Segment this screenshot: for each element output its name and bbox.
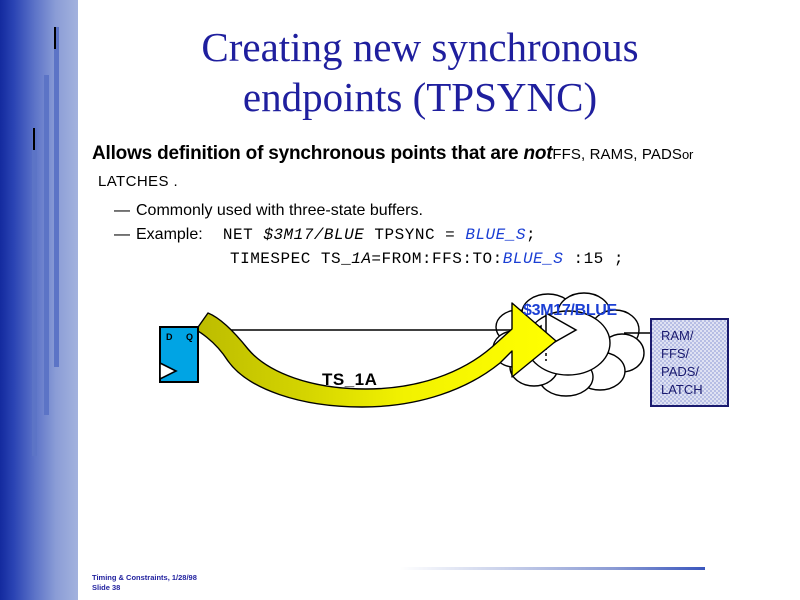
slide-footer: Timing & Constraints, 1/28/98 Slide 38: [92, 573, 197, 593]
net-name-label: $3M17/BLUE: [523, 302, 617, 320]
flipflop-q-pin-label: Q: [186, 332, 193, 342]
slide-title: Creating new synchronous endpoints (TPSY…: [110, 22, 730, 122]
code-timespec-name: 1A: [351, 250, 371, 268]
endpoint-box: RAM/ FFS/ PADS/ LATCH: [650, 318, 729, 407]
code-line-1-terminator: ;: [526, 226, 536, 244]
code-net-keyword: NET: [223, 226, 263, 244]
code-timespec-value: :15 ;: [563, 250, 624, 268]
code-net-name: $3M17/BLUE: [263, 226, 364, 244]
sidebar-tick-1: [33, 128, 35, 150]
lead-prefix: Allows definition of synchronous points …: [92, 143, 523, 164]
footer-deck-title: Timing & Constraints, 1/28/98: [92, 573, 197, 583]
code-tpsync-keyword: TPSYNC =: [364, 226, 465, 244]
flipflop-d-pin-label: D: [166, 332, 173, 342]
code-tpsync-value: BLUE_S: [465, 226, 526, 244]
slide-title-line2: endpoints (TPSYNC): [110, 72, 730, 122]
em-dash-icon: —: [114, 202, 130, 219]
bullet-item-0-text: Commonly used with three-state buffers.: [136, 202, 423, 219]
bullet-item-1-label: Example:: [136, 226, 203, 243]
lead-italic-not: not: [523, 143, 552, 164]
code-timespec-keyword: TIMESPEC TS_: [230, 250, 351, 268]
slide-title-line1: Creating new synchronous: [201, 24, 638, 70]
footer-slide-number: Slide 38: [92, 583, 197, 593]
code-timespec-from-to: =FROM:FFS:TO:: [371, 250, 502, 268]
lead-conjunction: or: [682, 147, 693, 162]
sub-bullet-list: —Commonly used with three-state buffers.…: [92, 199, 772, 271]
endpoint-box-line-1: FFS/: [661, 345, 727, 363]
slide-body: Allows definition of synchronous points …: [92, 140, 772, 271]
lead-paragraph: Allows definition of synchronous points …: [92, 140, 772, 169]
code-line-1: NET $3M17/BLUE TPSYNC = BLUE_S;: [203, 226, 536, 244]
code-line-2: TIMESPEC TS_1A=FROM:FFS:TO:BLUE_S :15 ;: [114, 247, 772, 271]
endpoint-box-line-0: RAM/: [661, 327, 727, 345]
bullet-item-0: —Commonly used with three-state buffers.: [114, 199, 772, 223]
lead-paragraph-line2: LATCHES .: [92, 169, 772, 195]
endpoint-box-line-2: PADS/: [661, 363, 727, 381]
slide-canvas: Creating new synchronous endpoints (TPSY…: [0, 0, 800, 600]
em-dash-icon: —: [114, 226, 130, 243]
sidebar-tick-2: [54, 27, 56, 49]
timespec-label: TS_1A: [322, 370, 377, 390]
footer-rule: [400, 567, 705, 570]
lead-endpoint-list: FFS, RAMS, PADS: [552, 146, 682, 163]
bullet-item-1: —Example: NET $3M17/BLUE TPSYNC = BLUE_S…: [114, 223, 772, 247]
code-timespec-target: BLUE_S: [503, 250, 564, 268]
endpoint-box-line-3: LATCH: [661, 381, 727, 399]
